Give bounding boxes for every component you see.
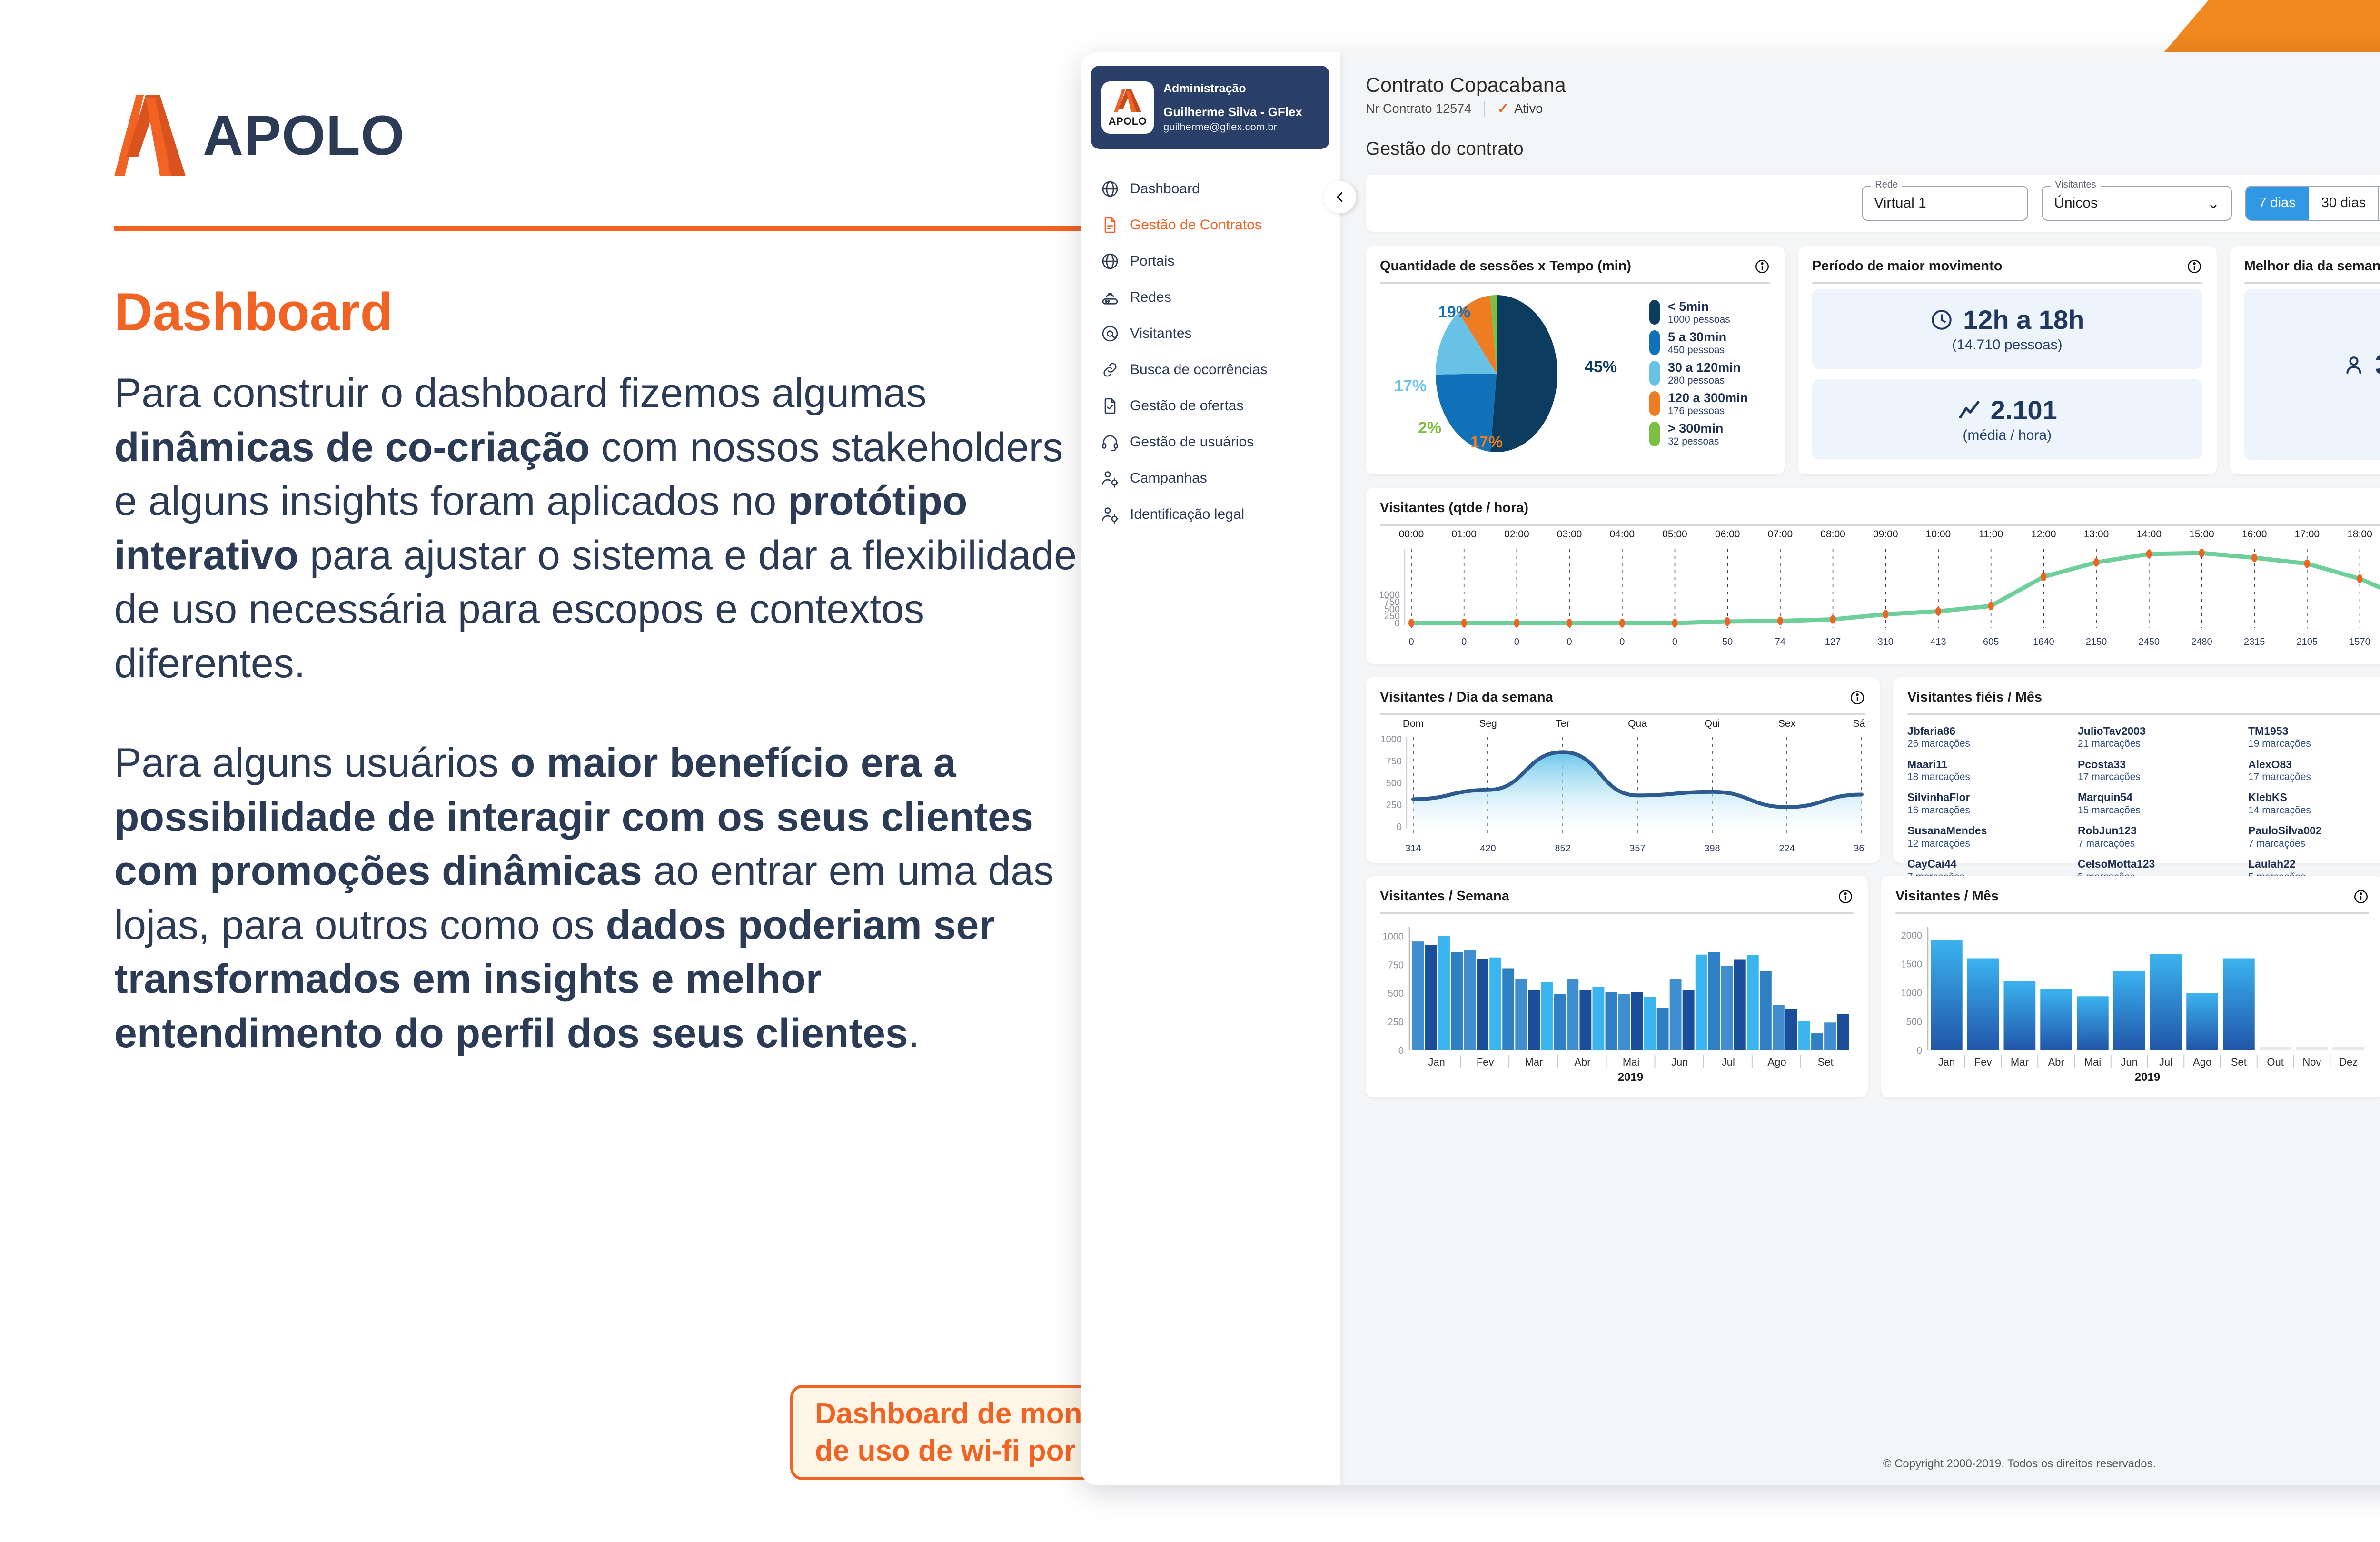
trend-icon bbox=[1957, 398, 1981, 422]
svg-text:17:00: 17:00 bbox=[2295, 530, 2320, 540]
svg-text:08:00: 08:00 bbox=[1820, 530, 1845, 540]
svg-text:0: 0 bbox=[1672, 637, 1677, 647]
sidebar-item-gest-o-de-contratos[interactable]: Gestão de Contratos bbox=[1081, 207, 1340, 243]
sidebar-item-label: Visitantes bbox=[1130, 326, 1192, 342]
loyal-visitor-count: 12 marcações bbox=[1907, 838, 2071, 850]
svg-text:12:00: 12:00 bbox=[2031, 530, 2056, 540]
pie-legend: < 5min1000 pessoas5 a 30min450 pessoas30… bbox=[1646, 299, 1770, 447]
svg-text:1640: 1640 bbox=[2033, 637, 2054, 647]
loyal-visitor-item: Marquin5415 marcações bbox=[2078, 791, 2241, 817]
svg-text:Set: Set bbox=[2231, 1056, 2247, 1068]
legend-label: > 300min bbox=[1668, 421, 1723, 435]
filter-bar: Rede Virtual 1 Visitantes Únicos ⌄ 7 dia… bbox=[1366, 175, 2380, 232]
legend-text: 5 a 30min450 pessoas bbox=[1668, 330, 1726, 356]
svg-text:Ago: Ago bbox=[1767, 1056, 1786, 1068]
cards-row-3: Visitantes / Dia da semana 0250500750100… bbox=[1366, 677, 2380, 863]
svg-text:605: 605 bbox=[1983, 637, 1999, 647]
legend-value: 32 pessoas bbox=[1668, 436, 1723, 447]
svg-text:420: 420 bbox=[1480, 843, 1496, 854]
svg-text:Seg: Seg bbox=[1479, 718, 1497, 729]
sidebar: APOLO Administração Guilherme Silva - GF… bbox=[1081, 52, 1340, 1485]
svg-text:Jul: Jul bbox=[1722, 1056, 1735, 1068]
legend-text: > 300min32 pessoas bbox=[1668, 421, 1723, 447]
pie-pct-4: 2% bbox=[1418, 419, 1441, 437]
card-title: Quantidade de sessões x Tempo (min) bbox=[1380, 258, 1631, 274]
svg-text:0: 0 bbox=[1567, 637, 1572, 647]
svg-text:2315: 2315 bbox=[2244, 637, 2265, 647]
router-icon bbox=[1101, 288, 1120, 307]
loyal-visitor-item: KlebKS14 marcações bbox=[2248, 791, 2380, 817]
legend-label: < 5min bbox=[1668, 299, 1709, 314]
editorial-column: APOLO Dashboard Para construir o dashboa… bbox=[114, 86, 1095, 1060]
svg-text:0: 0 bbox=[1619, 637, 1625, 647]
legend-item: < 5min1000 pessoas bbox=[1649, 299, 1770, 326]
loyal-visitor-count: 15 marcações bbox=[2078, 804, 2241, 817]
svg-text:Dez: Dez bbox=[2339, 1056, 2358, 1068]
info-icon[interactable] bbox=[2186, 258, 2202, 275]
svg-text:10:00: 10:00 bbox=[1926, 530, 1951, 540]
svg-text:01:00: 01:00 bbox=[1451, 530, 1477, 540]
contract-name: Contrato Copacabana bbox=[1366, 73, 1566, 98]
card-weekday-visitors: Visitantes / Dia da semana 0250500750100… bbox=[1366, 677, 1880, 863]
sidebar-item-campanhas[interactable]: Campanhas bbox=[1081, 460, 1340, 496]
legend-swatch bbox=[1649, 422, 1660, 446]
editorial-paragraph-1: Para construir o dashboard fizemos algum… bbox=[114, 366, 1095, 691]
legend-label: 5 a 30min bbox=[1668, 330, 1726, 344]
legend-label: 120 a 300min bbox=[1668, 391, 1748, 405]
svg-text:367: 367 bbox=[1854, 843, 1865, 854]
loyal-visitor-count: 17 marcações bbox=[2078, 771, 2241, 783]
user-gear-icon bbox=[1101, 505, 1120, 524]
loyal-visitor-name: KlebKS bbox=[2248, 791, 2380, 804]
kpi-value: 2.101 bbox=[1991, 395, 2057, 425]
card-loyal-visitors: Visitantes fiéis / Mês Jbfaria8626 marca… bbox=[1893, 677, 2380, 863]
svg-text:1000: 1000 bbox=[1383, 931, 1404, 942]
legend-value: 450 pessoas bbox=[1668, 345, 1726, 356]
svg-text:04:00: 04:00 bbox=[1610, 530, 1635, 540]
pie-pct-1: 19% bbox=[1438, 303, 1470, 322]
sidebar-user-block: Administração Guilherme Silva - GFlex gu… bbox=[1163, 82, 1302, 133]
svg-text:05:00: 05:00 bbox=[1662, 530, 1687, 540]
cards-row-4: Visitantes / Semana 02505007501000JanFev… bbox=[1366, 876, 2380, 1097]
range-option-1[interactable]: 30 dias bbox=[2309, 187, 2380, 220]
card-header: Visitantes / Dia da semana bbox=[1380, 690, 1865, 713]
weekly-bar-chart: 02505007501000JanFevMarAbrMaiJunJulAgoSe… bbox=[1380, 917, 1854, 1084]
svg-text:1000: 1000 bbox=[1380, 590, 1400, 600]
legend-item: > 300min32 pessoas bbox=[1649, 421, 1770, 447]
card-title: Visitantes / Semana bbox=[1380, 889, 1509, 904]
svg-text:250: 250 bbox=[1388, 1017, 1404, 1028]
slide-root: APOLO Dashboard Para construir o dashboa… bbox=[0, 0, 2380, 1542]
loyal-visitor-name: CelsoMotta123 bbox=[2078, 858, 2241, 871]
svg-text:Mar: Mar bbox=[2011, 1056, 2029, 1068]
svg-text:74: 74 bbox=[1775, 637, 1785, 647]
section-title: Gestão do contrato bbox=[1366, 138, 2380, 159]
svg-text:16:00: 16:00 bbox=[2242, 530, 2267, 540]
kpi-sub: (14.710 pessoas) bbox=[1952, 337, 2063, 353]
legend-swatch bbox=[1649, 361, 1660, 385]
kpi-value-row: 3.245 pessoas bbox=[2342, 349, 2380, 381]
kpi-sub: (média / hora) bbox=[1963, 427, 2052, 444]
loyal-visitor-name: Pcosta33 bbox=[2078, 758, 2241, 771]
svg-text:2019: 2019 bbox=[2135, 1071, 2160, 1083]
loyal-visitor-count: 7 marcações bbox=[2248, 838, 2380, 850]
svg-text:14:00: 14:00 bbox=[2136, 530, 2162, 540]
svg-text:Jan: Jan bbox=[1938, 1056, 1955, 1068]
svg-text:02:00: 02:00 bbox=[1504, 530, 1529, 540]
loyal-visitor-item: PauloSilva0027 marcações bbox=[2248, 824, 2380, 850]
sidebar-item-label: Gestão de ofertas bbox=[1130, 398, 1243, 414]
legend-value: 280 pessoas bbox=[1668, 375, 1741, 386]
legend-value: 1000 pessoas bbox=[1668, 314, 1730, 326]
loyal-visitor-count: 26 marcações bbox=[1907, 738, 2071, 750]
svg-text:Fev: Fev bbox=[1477, 1056, 1494, 1068]
svg-text:18:00: 18:00 bbox=[2347, 530, 2372, 540]
svg-text:Jan: Jan bbox=[1428, 1056, 1445, 1068]
hourly-line-chart: 0250500750100000:00001:00002:00003:00004… bbox=[1380, 530, 2380, 651]
svg-text:00:00: 00:00 bbox=[1399, 530, 1424, 540]
card-best-weekday: Melhor dia da semana 3.245 pessoas Terça… bbox=[2230, 246, 2380, 474]
card-header: Visitantes / Semana bbox=[1380, 889, 1854, 912]
svg-text:0: 0 bbox=[1461, 637, 1467, 647]
svg-text:310: 310 bbox=[1878, 637, 1894, 647]
sidebar-item-gest-o-de-usu-rios[interactable]: Gestão de usuários bbox=[1081, 424, 1340, 460]
editorial-paragraph-2: Para alguns usuários o maior benefício e… bbox=[114, 736, 1095, 1060]
range-segmented-control: 7 dias30 diasPersonalizado bbox=[2245, 186, 2380, 221]
loyal-visitor-count: 19 marcações bbox=[2248, 738, 2380, 750]
loyal-visitor-name: Marquin54 bbox=[2078, 791, 2241, 804]
loyal-visitor-count: 21 marcações bbox=[2078, 738, 2241, 750]
svg-text:0: 0 bbox=[1514, 637, 1519, 647]
svg-text:Out: Out bbox=[2267, 1056, 2283, 1068]
sidebar-item-dashboard[interactable]: Dashboard bbox=[1081, 171, 1340, 207]
info-icon[interactable] bbox=[1754, 258, 1770, 275]
loyal-visitor-item: JulioTav200321 marcações bbox=[2078, 725, 2241, 751]
loyal-visitor-name: SusanaMendes bbox=[1907, 824, 2071, 838]
svg-text:Nov: Nov bbox=[2302, 1056, 2321, 1068]
svg-text:1500: 1500 bbox=[1901, 959, 1923, 969]
svg-text:Abr: Abr bbox=[2048, 1056, 2064, 1068]
contract-number: Nr Contrato 12574 bbox=[1366, 101, 1471, 116]
sidebar-item-visitantes[interactable]: Visitantes bbox=[1081, 316, 1340, 352]
svg-text:314: 314 bbox=[1405, 843, 1421, 854]
svg-text:Dom: Dom bbox=[1403, 718, 1424, 729]
apolo-logo-mark bbox=[114, 95, 186, 176]
loyal-visitor-name: AlexO83 bbox=[2248, 758, 2380, 771]
kpi-value: 12h a 18h bbox=[1963, 304, 2084, 335]
loyal-visitor-item: Jbfaria8626 marcações bbox=[1907, 725, 2071, 751]
card-header: Quantidade de sessões x Tempo (min) bbox=[1380, 258, 1770, 282]
sidebar-item-identifica-o-legal[interactable]: Identificação legal bbox=[1081, 496, 1340, 533]
divider bbox=[1484, 101, 1485, 117]
card-peak-period: Período de maior movimento 12h a 18h (14… bbox=[1798, 246, 2217, 474]
card-divider bbox=[1380, 713, 1865, 715]
svg-text:750: 750 bbox=[1386, 756, 1402, 767]
apolo-logo: APOLO bbox=[114, 86, 1095, 186]
document-icon bbox=[1101, 216, 1120, 235]
headset-icon bbox=[1101, 433, 1120, 452]
visitantes-label: Visitantes bbox=[2051, 179, 2100, 190]
card-sessions-by-time: Quantidade de sessões x Tempo (min) 45% … bbox=[1366, 246, 1785, 474]
sidebar-item-redes[interactable]: Redes bbox=[1081, 279, 1340, 316]
card-divider bbox=[1812, 282, 2202, 284]
pie-pct-0: 45% bbox=[1585, 358, 1617, 376]
chevron-down-icon: ⌄ bbox=[2207, 196, 2220, 211]
info-icon[interactable] bbox=[2353, 889, 2369, 905]
card-title: Visitantes fiéis / Mês bbox=[1907, 690, 2042, 705]
card-hourly-visitors: Visitantes (qtde / hora) 025050075010000… bbox=[1366, 488, 2380, 664]
check-icon: ✓ bbox=[1497, 102, 1509, 116]
svg-text:250: 250 bbox=[1386, 800, 1402, 811]
cards-row-1: Quantidade de sessões x Tempo (min) 45% … bbox=[1366, 246, 2380, 474]
svg-text:13:00: 13:00 bbox=[2084, 530, 2109, 540]
loyal-visitors-grid: Jbfaria8626 marcaçõesJulioTav200321 marc… bbox=[1907, 725, 2380, 883]
loyal-visitor-count: 7 marcações bbox=[2078, 838, 2241, 850]
svg-text:Sex: Sex bbox=[1778, 718, 1796, 729]
svg-text:2450: 2450 bbox=[2138, 637, 2160, 647]
loyal-visitor-name: JulioTav2003 bbox=[2078, 725, 2241, 738]
loyal-visitor-name: Jbfaria86 bbox=[1907, 725, 2071, 738]
svg-text:852: 852 bbox=[1555, 843, 1570, 854]
kpi-value-row: 2.101 bbox=[1957, 395, 2057, 425]
loyal-visitor-item: SusanaMendes12 marcações bbox=[1907, 824, 2071, 850]
svg-text:2105: 2105 bbox=[2297, 637, 2318, 647]
svg-text:Ago: Ago bbox=[2193, 1056, 2211, 1068]
card-monthly-visitors: Visitantes / Mês 0500100015002000JanFevM… bbox=[1881, 876, 2380, 1097]
loyal-visitor-item: Pcosta3317 marcações bbox=[2078, 758, 2241, 784]
sidebar-logo-label: APOLO bbox=[1109, 115, 1147, 128]
card-divider bbox=[1907, 713, 2380, 715]
contract-meta: Nr Contrato 12574 ✓ Ativo bbox=[1366, 101, 1566, 117]
loyal-visitor-name: RobJun123 bbox=[2078, 824, 2241, 838]
svg-text:2000: 2000 bbox=[1901, 930, 1923, 941]
loyal-visitor-count: 17 marcações bbox=[2248, 771, 2380, 783]
svg-text:09:00: 09:00 bbox=[1873, 530, 1898, 540]
svg-text:2480: 2480 bbox=[2191, 637, 2212, 647]
globe-icon bbox=[1101, 179, 1120, 198]
svg-text:Jun: Jun bbox=[1671, 1056, 1688, 1068]
svg-text:0: 0 bbox=[1397, 822, 1402, 832]
loyal-visitor-name: Maari11 bbox=[1907, 758, 2071, 771]
loyal-visitor-name: PauloSilva002 bbox=[2248, 824, 2380, 838]
loyal-visitor-count: 14 marcações bbox=[2248, 804, 2380, 817]
svg-text:50: 50 bbox=[1722, 637, 1733, 647]
visitantes-select[interactable]: Visitantes Únicos ⌄ bbox=[2042, 186, 2232, 221]
sidebar-org: Administração bbox=[1163, 82, 1302, 100]
svg-text:1570: 1570 bbox=[2349, 637, 2370, 647]
sidebar-account-card[interactable]: APOLO Administração Guilherme Silva - GF… bbox=[1091, 66, 1329, 149]
sidebar-item-label: Dashboard bbox=[1130, 181, 1200, 197]
loyal-visitor-item: Maari1118 marcações bbox=[1907, 758, 2071, 784]
svg-text:224: 224 bbox=[1779, 843, 1795, 854]
svg-text:1000: 1000 bbox=[1901, 988, 1923, 998]
rede-select[interactable]: Rede Virtual 1 bbox=[1862, 186, 2028, 221]
card-weekly-visitors: Visitantes / Semana 02505007501000JanFev… bbox=[1366, 876, 1868, 1097]
svg-text:0: 0 bbox=[1398, 1046, 1404, 1056]
sidebar-user-email: guilherme@gflex.com.br bbox=[1163, 119, 1302, 133]
card-divider bbox=[2244, 282, 2380, 284]
main-content: Contrato Copacabana Nr Contrato 12574 ✓ … bbox=[1340, 52, 2380, 1485]
info-icon[interactable] bbox=[1837, 889, 1854, 905]
status-label: Ativo bbox=[1514, 101, 1543, 116]
card-divider bbox=[1895, 912, 2369, 914]
person-icon bbox=[2342, 353, 2366, 377]
sidebar-item-label: Campanhas bbox=[1130, 470, 1207, 486]
document-check-icon bbox=[1101, 396, 1120, 415]
svg-text:11:00: 11:00 bbox=[1979, 530, 2003, 540]
legend-swatch bbox=[1649, 300, 1660, 325]
sidebar-item-label: Gestão de usuários bbox=[1130, 434, 1254, 450]
pie-pct-2: 17% bbox=[1394, 377, 1427, 395]
svg-text:0: 0 bbox=[1408, 637, 1414, 647]
at-icon bbox=[1101, 324, 1120, 343]
card-header: Melhor dia da semana bbox=[2244, 258, 2380, 282]
rede-value: Virtual 1 bbox=[1874, 195, 1926, 211]
loyal-visitor-name: TM1953 bbox=[2248, 725, 2380, 738]
sidebar-nav: DashboardGestão de ContratosPortaisRedes… bbox=[1081, 171, 1340, 533]
svg-text:Ter: Ter bbox=[1556, 718, 1569, 729]
loyal-visitor-count: 18 marcações bbox=[1907, 771, 2071, 783]
range-option-0[interactable]: 7 dias bbox=[2246, 187, 2309, 220]
link-icon bbox=[1101, 360, 1120, 379]
svg-text:500: 500 bbox=[1388, 988, 1404, 999]
svg-text:1000: 1000 bbox=[1381, 734, 1402, 745]
page-header: Contrato Copacabana Nr Contrato 12574 ✓ … bbox=[1366, 73, 2380, 117]
loyal-visitor-item: RobJun1237 marcações bbox=[2078, 824, 2241, 850]
svg-text:500: 500 bbox=[1386, 778, 1402, 789]
loyal-visitor-item: SilvinhaFlor16 marcações bbox=[1907, 791, 2071, 817]
sidebar-item-label: Gestão de Contratos bbox=[1130, 217, 1262, 233]
footer-copyright: © Copyright 2000-2019. Todos os direitos… bbox=[1340, 1457, 2380, 1471]
loyal-visitor-item: TM195319 marcações bbox=[2248, 725, 2380, 751]
svg-text:Abr: Abr bbox=[1574, 1056, 1590, 1068]
svg-text:127: 127 bbox=[1825, 637, 1841, 647]
globe-icon bbox=[1101, 252, 1120, 271]
svg-text:2150: 2150 bbox=[2086, 637, 2107, 647]
legend-item: 120 a 300min176 pessoas bbox=[1649, 391, 1770, 417]
svg-text:2019: 2019 bbox=[1618, 1071, 1643, 1083]
rede-label: Rede bbox=[1871, 179, 1902, 190]
card-header: Visitantes (qtde / hora) bbox=[1380, 500, 2380, 524]
loyal-visitor-name: CayCai44 bbox=[1907, 858, 2071, 871]
svg-text:Mar: Mar bbox=[1525, 1056, 1543, 1068]
sidebar-user-name: Guilherme Silva - GFlex bbox=[1163, 100, 1302, 119]
svg-text:03:00: 03:00 bbox=[1557, 530, 1582, 540]
legend-text: < 5min1000 pessoas bbox=[1668, 299, 1730, 326]
app-window: APOLO Administração Guilherme Silva - GF… bbox=[1081, 52, 2380, 1485]
kpi-value: 3.245 pessoas bbox=[2375, 349, 2380, 381]
loyal-visitor-item: AlexO8317 marcações bbox=[2248, 758, 2380, 784]
pie-chart-wrap: 45% 19% 17% 17% 2% < 5min1000 pessoas5 a… bbox=[1380, 284, 1770, 458]
card-title: Visitantes / Mês bbox=[1895, 889, 1999, 904]
svg-text:Sáb: Sáb bbox=[1853, 718, 1865, 729]
sidebar-item-busca-de-ocorr-ncias[interactable]: Busca de ocorrências bbox=[1081, 352, 1340, 388]
status-badge: ✓ Ativo bbox=[1497, 101, 1543, 116]
svg-text:Jun: Jun bbox=[2121, 1056, 2137, 1068]
chevron-left-icon bbox=[1333, 190, 1347, 204]
sidebar-collapse-button[interactable] bbox=[1324, 181, 1356, 213]
kpi-peak-hours: 12h a 18h (14.710 pessoas) bbox=[1812, 289, 2202, 369]
legend-text: 120 a 300min176 pessoas bbox=[1668, 391, 1748, 417]
svg-text:Mai: Mai bbox=[1623, 1056, 1639, 1068]
svg-text:Qua: Qua bbox=[1628, 718, 1647, 729]
card-header: Visitantes / Mês bbox=[1895, 889, 2369, 912]
contract-info: Contrato Copacabana Nr Contrato 12574 ✓ … bbox=[1366, 73, 1566, 117]
info-icon[interactable] bbox=[1849, 690, 1865, 706]
card-title: Melhor dia da semana bbox=[2244, 258, 2380, 274]
clock-icon bbox=[1930, 308, 1954, 332]
svg-text:Set: Set bbox=[1818, 1056, 1834, 1068]
legend-swatch bbox=[1649, 391, 1660, 416]
card-divider bbox=[1380, 912, 1854, 914]
legend-item: 5 a 30min450 pessoas bbox=[1649, 330, 1770, 356]
pie-pct-3: 17% bbox=[1470, 433, 1503, 452]
card-header: Período de maior movimento bbox=[1812, 258, 2202, 282]
legend-value: 176 pessoas bbox=[1668, 405, 1748, 417]
sidebar-item-label: Busca de ocorrências bbox=[1130, 362, 1268, 378]
orange-divider bbox=[114, 226, 1085, 231]
loyal-visitor-count: 16 marcações bbox=[1907, 804, 2071, 817]
weekday-area-chart: 02505007501000Dom314Seg420Ter852Qua357Qu… bbox=[1380, 718, 1865, 855]
card-divider bbox=[1380, 524, 2380, 526]
sidebar-item-label: Identificação legal bbox=[1130, 506, 1244, 523]
visitantes-value: Únicos bbox=[2054, 195, 2098, 211]
legend-label: 30 a 120min bbox=[1668, 360, 1741, 375]
svg-text:398: 398 bbox=[1704, 843, 1720, 854]
svg-text:15:00: 15:00 bbox=[2189, 530, 2214, 540]
pie-chart: 45% 19% 17% 17% 2% bbox=[1380, 287, 1646, 460]
sidebar-logo: APOLO bbox=[1101, 81, 1154, 134]
sidebar-item-label: Redes bbox=[1130, 289, 1171, 306]
kpi-average-per-hour: 2.101 (média / hora) bbox=[1812, 379, 2202, 459]
legend-text: 30 a 120min280 pessoas bbox=[1668, 360, 1741, 386]
legend-swatch bbox=[1649, 330, 1660, 355]
page-title: Dashboard bbox=[114, 286, 1095, 339]
loyal-visitor-name: SilvinhaFlor bbox=[1907, 791, 2071, 804]
svg-text:Jul: Jul bbox=[2159, 1056, 2172, 1068]
kpi-best-day: 3.245 pessoas Terça, 14/05/2021 bbox=[2244, 289, 2380, 460]
svg-text:Fev: Fev bbox=[1974, 1056, 1992, 1068]
sidebar-item-label: Portais bbox=[1130, 253, 1174, 269]
svg-text:413: 413 bbox=[1930, 637, 1946, 647]
svg-text:500: 500 bbox=[1906, 1017, 1922, 1027]
legend-item: 30 a 120min280 pessoas bbox=[1649, 360, 1770, 386]
svg-text:357: 357 bbox=[1629, 843, 1645, 854]
svg-text:06:00: 06:00 bbox=[1715, 530, 1740, 540]
apolo-logo-text: APOLO bbox=[203, 108, 405, 164]
sidebar-item-portais[interactable]: Portais bbox=[1081, 243, 1340, 279]
svg-text:Mai: Mai bbox=[2084, 1056, 2101, 1068]
user-gear-icon bbox=[1101, 469, 1120, 488]
kpi-value-row: 12h a 18h bbox=[1930, 304, 2084, 335]
monthly-bar-chart: 0500100015002000JanFevMarAbrMaiJunJulAgo… bbox=[1895, 917, 2369, 1084]
svg-text:0: 0 bbox=[1917, 1046, 1922, 1056]
card-title: Visitantes (qtde / hora) bbox=[1380, 500, 1528, 516]
svg-text:07:00: 07:00 bbox=[1768, 530, 1793, 540]
cards-row-2: Visitantes (qtde / hora) 025050075010000… bbox=[1366, 488, 2380, 664]
svg-text:Qui: Qui bbox=[1705, 718, 1720, 729]
svg-text:750: 750 bbox=[1388, 960, 1404, 970]
card-header: Visitantes fiéis / Mês bbox=[1907, 690, 2380, 713]
loyal-visitor-name: Laulah22 bbox=[2248, 858, 2380, 871]
card-title: Visitantes / Dia da semana bbox=[1380, 690, 1553, 705]
card-title: Período de maior movimento bbox=[1812, 258, 2003, 274]
sidebar-item-gest-o-de-ofertas[interactable]: Gestão de ofertas bbox=[1081, 388, 1340, 424]
